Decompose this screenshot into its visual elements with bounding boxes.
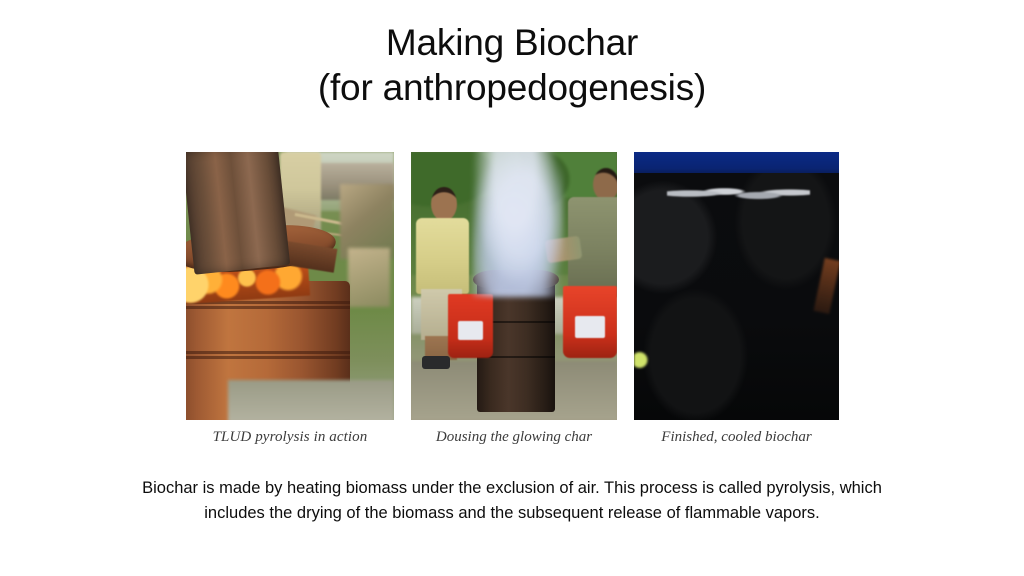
figure-caption: Dousing the glowing char xyxy=(411,429,617,446)
red-bucket-left xyxy=(448,294,493,358)
head xyxy=(431,187,456,222)
drum-rib xyxy=(186,351,350,354)
page-title: Making Biochar (for anthropedogenesis) xyxy=(0,20,1024,110)
figure-tlud-pyrolysis: TLUD pyrolysis in action xyxy=(186,152,394,446)
title-line-1: Making Biochar xyxy=(0,20,1024,65)
brush-debris-2 xyxy=(348,248,390,307)
char-top-band xyxy=(667,181,811,205)
body-paragraph: Biochar is made by heating biomass under… xyxy=(136,476,888,526)
figure-row: TLUD pyrolysis in action xyxy=(186,152,838,464)
photo-tlud-pyrolysis xyxy=(186,152,394,420)
chimney-pipe xyxy=(186,152,290,275)
shoe xyxy=(422,356,450,369)
bucket-label xyxy=(575,316,605,338)
photo-finished-biochar xyxy=(634,152,839,420)
figure-dousing-char: Dousing the glowing char xyxy=(411,152,617,446)
figure-caption: Finished, cooled biochar xyxy=(634,429,839,446)
yellow-shirt xyxy=(416,218,469,295)
slide-canvas: Making Biochar (for anthropedogenesis) xyxy=(0,0,1024,576)
drum-rib xyxy=(186,306,350,309)
head xyxy=(593,168,617,201)
title-line-2: (for anthropedogenesis) xyxy=(0,65,1024,110)
bucket-label xyxy=(458,321,483,340)
drum-rib xyxy=(186,356,350,359)
dirt-ground xyxy=(228,380,394,420)
figure-finished-biochar: Finished, cooled biochar xyxy=(634,152,839,446)
figure-caption: TLUD pyrolysis in action xyxy=(186,429,394,446)
green-leaf xyxy=(634,348,648,372)
steam-plume xyxy=(473,152,564,297)
photo-dousing-char xyxy=(411,152,617,420)
red-bucket-right xyxy=(563,286,617,358)
